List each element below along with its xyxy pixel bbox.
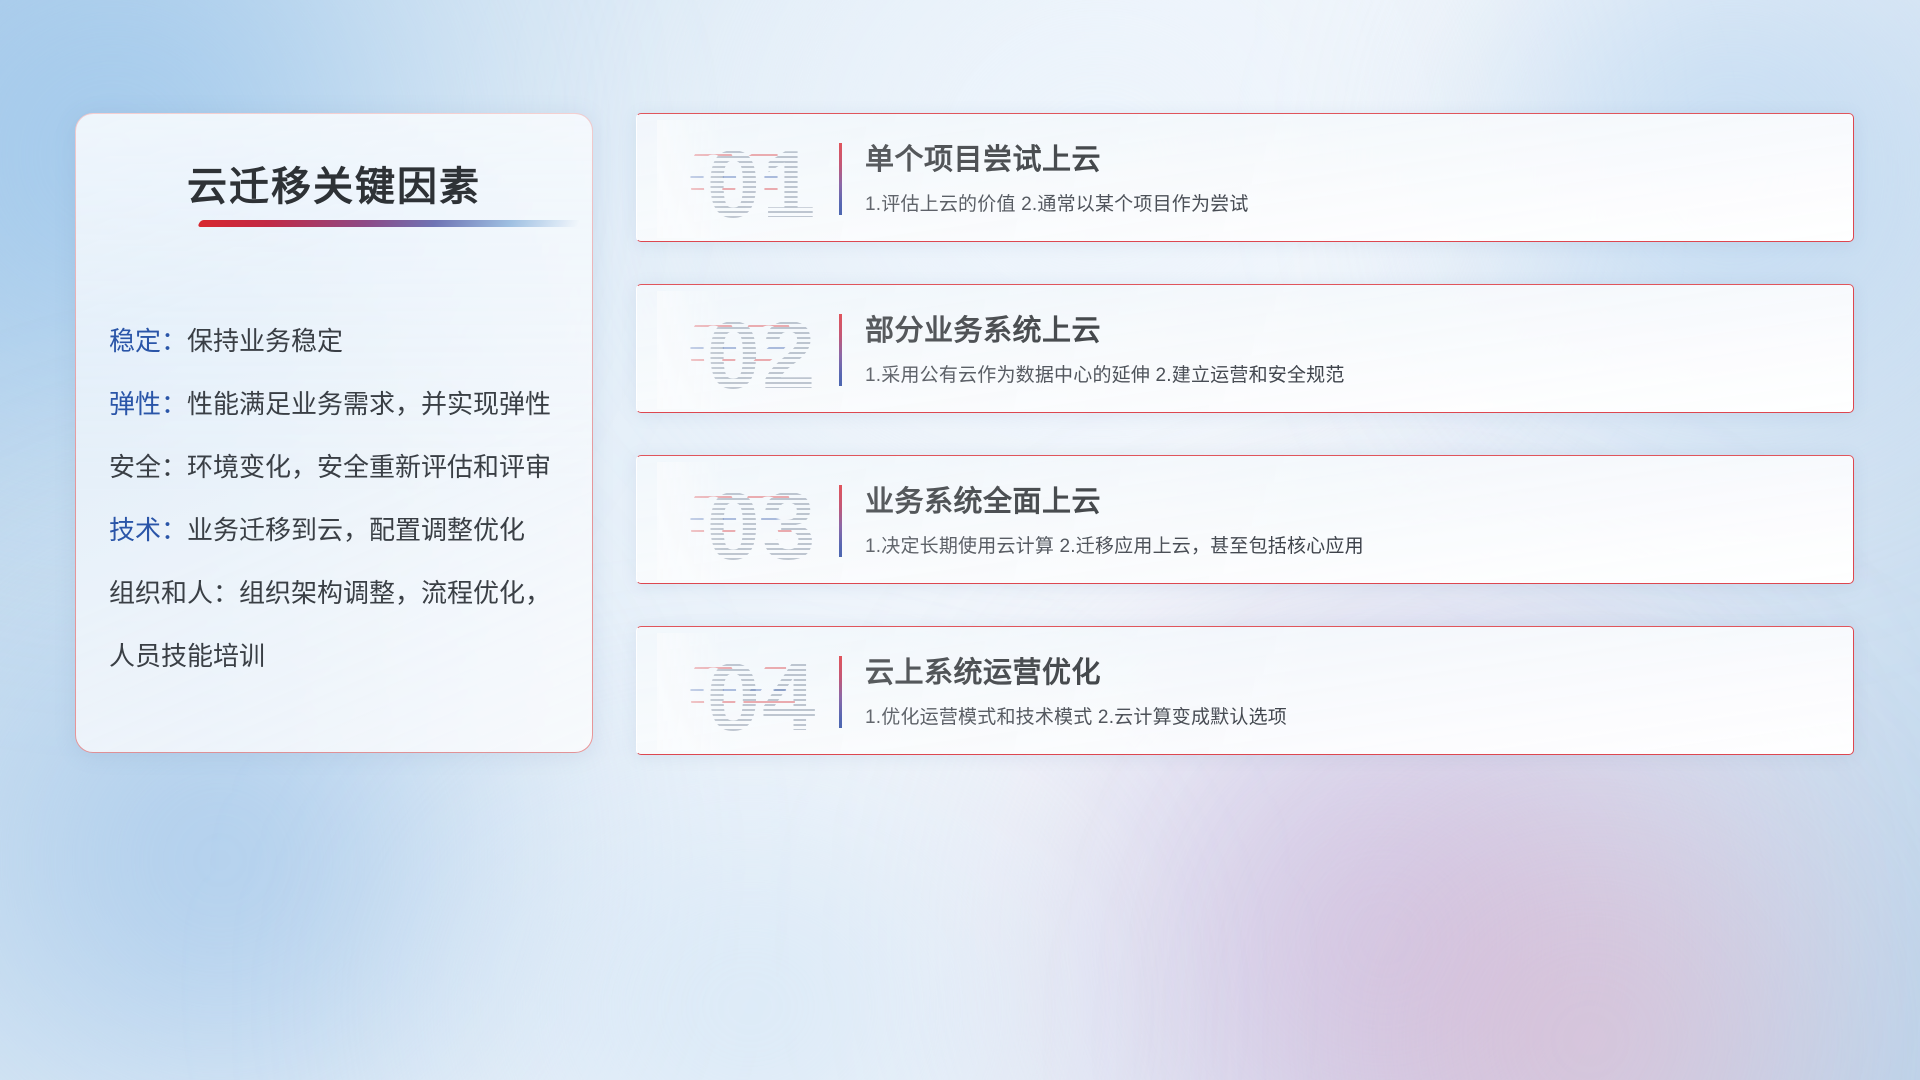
stage-subtitle: 1.优化运营模式和技术模式 2.云计算变成默认选项 — [865, 702, 1287, 729]
stage-number-graphic: 0303 — [657, 462, 827, 580]
stage-card[interactable]: 0202部分业务系统上云1.采用公有云作为数据中心的延伸 2.建立运营和安全规范 — [636, 284, 1854, 413]
key-factor-text: 组织架构调整，流程优化， — [239, 578, 551, 608]
panel-title: 云迁移关键因素 — [76, 154, 592, 212]
key-factors-panel: 云迁移关键因素 稳定：保持业务稳定弹性：性能满足业务需求，并实现弹性安全：环境变… — [75, 113, 593, 753]
key-factor-text: 保持业务稳定 — [187, 326, 343, 356]
stage-title: 云上系统运营优化 — [865, 649, 1101, 691]
slide-stage: 云迁移关键因素 稳定：保持业务稳定弹性：性能满足业务需求，并实现弹性安全：环境变… — [0, 0, 1920, 1080]
stage-subtitle: 1.评估上云的价值 2.通常以某个项目作为尝试 — [865, 189, 1249, 216]
stage-card[interactable]: 0404云上系统运营优化1.优化运营模式和技术模式 2.云计算变成默认选项 — [636, 626, 1854, 755]
key-factor-text: 人员技能培训 — [109, 641, 265, 671]
stage-subtitle: 1.决定长期使用云计算 2.迁移应用上云，甚至包括核心应用 — [865, 531, 1364, 558]
stage-accent-bar — [839, 485, 842, 557]
stage-number-graphic: 0101 — [657, 120, 827, 238]
stage-accent-bar — [839, 314, 842, 386]
key-factor-text: 业务迁移到云，配置调整优化 — [187, 515, 525, 545]
key-factor-line: 组织和人：组织架构调整，流程优化， — [109, 562, 568, 625]
stage-number: 04 — [677, 639, 847, 755]
stage-number: 02 — [677, 297, 847, 413]
stage-card[interactable]: 0303业务系统全面上云1.决定长期使用云计算 2.迁移应用上云，甚至包括核心应… — [636, 455, 1854, 584]
key-factor-label: 弹性： — [109, 389, 187, 419]
key-factor-line: 稳定：保持业务稳定 — [109, 310, 568, 373]
key-factor-line: 技术：业务迁移到云，配置调整优化 — [109, 499, 568, 562]
stage-title: 业务系统全面上云 — [865, 478, 1101, 520]
key-factor-label: 稳定： — [109, 326, 187, 356]
stage-accent-bar — [839, 656, 842, 728]
key-factor-line: 安全：环境变化，安全重新评估和评审 — [109, 436, 568, 499]
stage-title: 部分业务系统上云 — [865, 307, 1101, 349]
key-factors-list: 稳定：保持业务稳定弹性：性能满足业务需求，并实现弹性安全：环境变化，安全重新评估… — [109, 310, 568, 688]
key-factor-text: 性能满足业务需求，并实现弹性 — [187, 389, 551, 419]
stage-number-graphic: 0404 — [657, 633, 827, 751]
key-factor-label: 技术： — [109, 515, 187, 545]
key-factor-label: 组织和人： — [109, 578, 239, 608]
stage-title: 单个项目尝试上云 — [865, 136, 1101, 178]
migration-stages-list: 0101单个项目尝试上云1.评估上云的价值 2.通常以某个项目作为尝试0202部… — [636, 113, 1854, 755]
stage-card[interactable]: 0101单个项目尝试上云1.评估上云的价值 2.通常以某个项目作为尝试 — [636, 113, 1854, 242]
stage-subtitle: 1.采用公有云作为数据中心的延伸 2.建立运营和安全规范 — [865, 360, 1345, 387]
stage-number-graphic: 0202 — [657, 291, 827, 409]
stage-number: 03 — [677, 468, 847, 584]
key-factor-label: 安全： — [109, 452, 187, 482]
stage-number: 01 — [677, 126, 847, 242]
key-factor-line: 弹性：性能满足业务需求，并实现弹性 — [109, 373, 568, 436]
title-underline-gradient — [197, 220, 580, 227]
key-factor-line: 人员技能培训 — [109, 625, 568, 688]
key-factor-text: 环境变化，安全重新评估和评审 — [187, 452, 551, 482]
stage-accent-bar — [839, 143, 842, 215]
